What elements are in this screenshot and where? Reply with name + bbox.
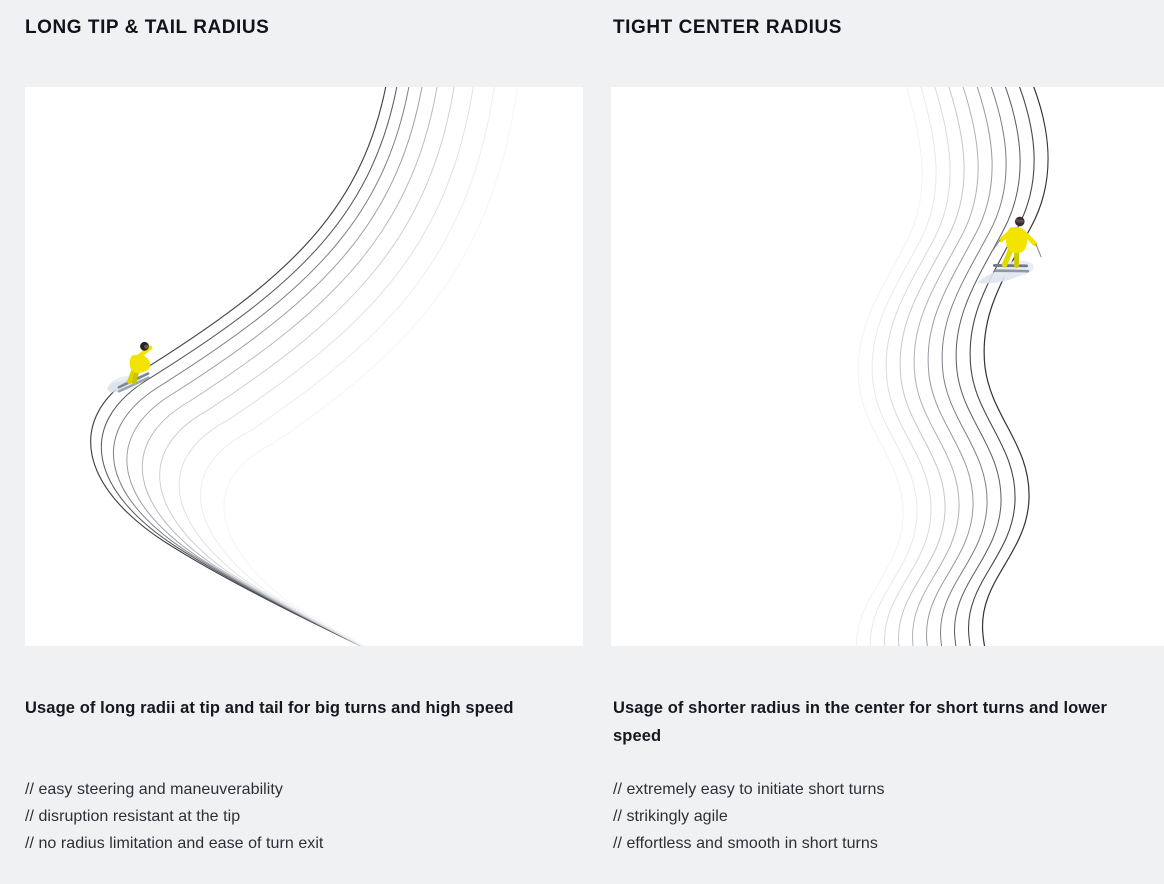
track-line-2	[101, 87, 583, 646]
comparison-page: LONG TIP & TAIL RADIUS	[0, 0, 1164, 884]
list-item: // effortless and smooth in short turns	[613, 830, 1153, 857]
column-long-tip-tail-radius: LONG TIP & TAIL RADIUS	[0, 0, 583, 884]
track-line-8	[885, 87, 951, 646]
list-item: // easy steering and maneuverability	[25, 776, 565, 803]
section-title-left: LONG TIP & TAIL RADIUS	[25, 15, 269, 41]
short-radius-track-illustration	[611, 87, 1164, 646]
long-radius-track-illustration	[25, 87, 583, 646]
skier-icon	[990, 214, 1046, 277]
list-item: // extremely easy to initiate short turn…	[613, 776, 1153, 803]
figure-panel-left	[25, 87, 583, 646]
track-line-8	[201, 87, 583, 646]
track-line-7	[179, 87, 583, 646]
track-line-5	[142, 87, 583, 646]
section-title-right: TIGHT CENTER RADIUS	[613, 15, 842, 41]
column-tight-center-radius: TIGHT CENTER RADIUS	[611, 0, 1164, 884]
list-item: // disruption resistant at the tip	[25, 803, 565, 830]
track-line-9	[224, 87, 583, 646]
figure-caption-left: Usage of long radii at tip and tail for …	[25, 694, 553, 722]
track-line-10	[857, 87, 923, 646]
list-item: // no radius limitation and ease of turn…	[25, 830, 565, 857]
figure-caption-right: Usage of shorter radius in the center fo…	[613, 694, 1153, 750]
track-line-3	[113, 87, 583, 646]
benefit-list-right: // extremely easy to initiate short turn…	[613, 776, 1153, 857]
figure-panel-right	[611, 87, 1164, 646]
track-line-4	[127, 87, 583, 646]
benefit-list-left: // easy steering and maneuverability // …	[25, 776, 565, 857]
track-line-7	[899, 87, 965, 646]
track-line-9	[871, 87, 937, 646]
list-item: // strikingly agile	[613, 803, 1153, 830]
